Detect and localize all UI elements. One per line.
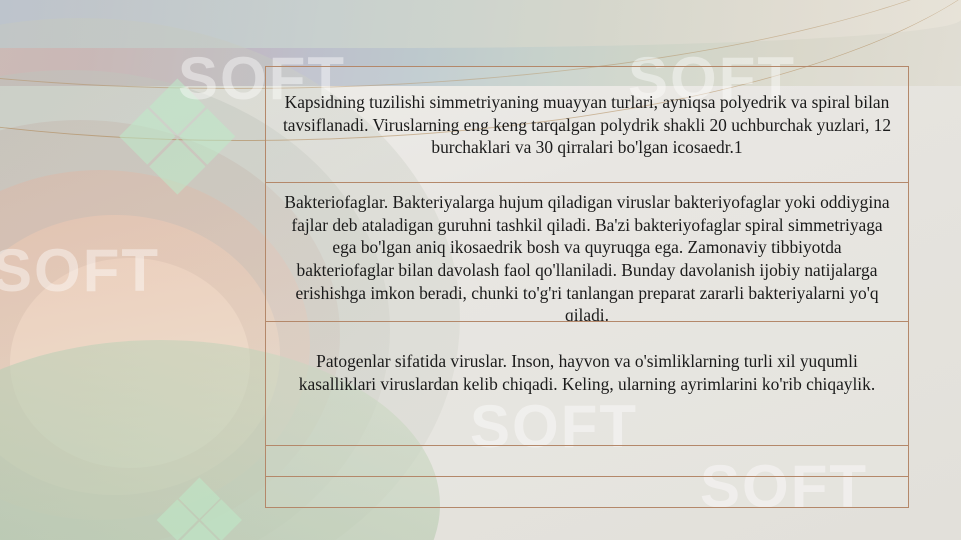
- content-paragraph-5: [266, 477, 908, 507]
- content-paragraph-1: Kapsidning tuzilishi simmetriyaning muay…: [266, 67, 908, 183]
- content-table: Kapsidning tuzilishi simmetriyaning muay…: [265, 66, 909, 508]
- slide-canvas: ❖ ❖ SOFT SOFT SOFT SOFT SOFT Kapsidning …: [0, 0, 961, 540]
- content-paragraph-4: [266, 446, 908, 477]
- content-paragraph-3: Patogenlar sifatida viruslar. Inson, hay…: [266, 322, 908, 446]
- content-paragraph-2: Bakteriofaglar. Bakteriyalarga hujum qil…: [266, 183, 908, 322]
